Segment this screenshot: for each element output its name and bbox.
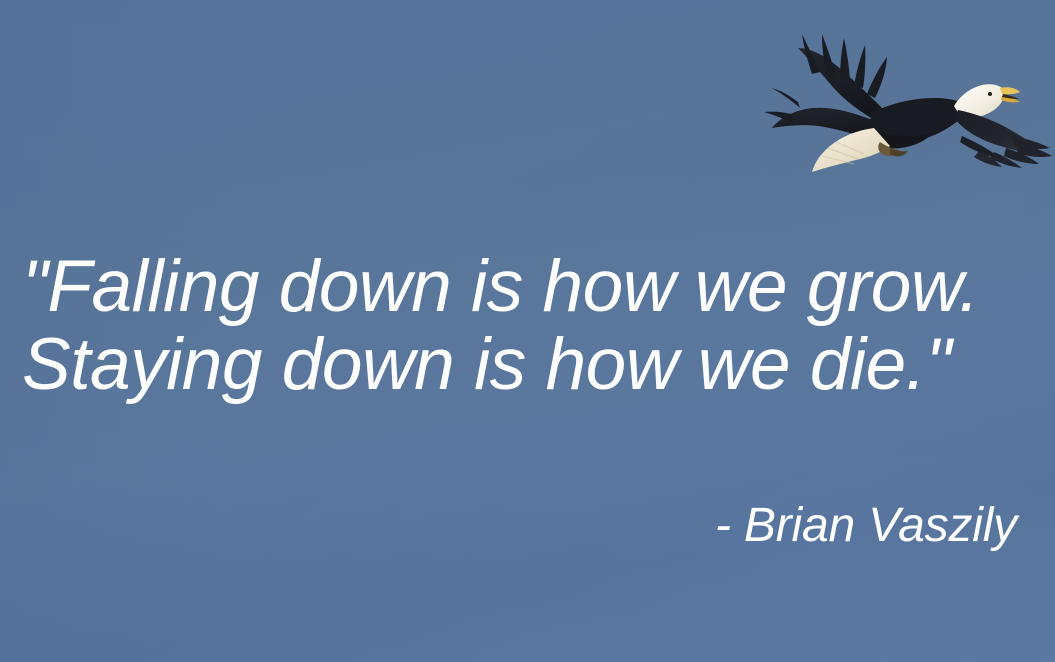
eagle-tail bbox=[812, 128, 890, 172]
quote-line-2: Staying down is how we die." bbox=[22, 326, 951, 404]
quote-poster: "Falling down is how we grow. Staying do… bbox=[0, 0, 1055, 662]
eagle-eye bbox=[988, 92, 992, 96]
eagle-left-wing bbox=[764, 34, 888, 140]
eagle-right-wing bbox=[954, 110, 1052, 168]
eagle-beak-upper bbox=[1000, 87, 1020, 94]
quote-line-1: "Falling down is how we grow. bbox=[22, 248, 979, 326]
bald-eagle-photo bbox=[762, 18, 1055, 183]
quote-attribution: - Brian Vaszily bbox=[715, 498, 1017, 554]
